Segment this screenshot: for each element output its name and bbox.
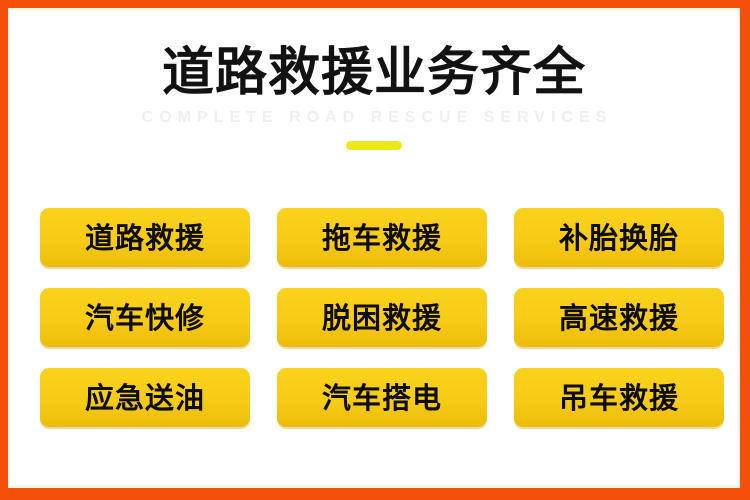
- service-button-label: 应急送油: [85, 382, 205, 414]
- service-button-highway-rescue[interactable]: 高速救援: [514, 288, 724, 347]
- accent-underline-bar: [346, 141, 402, 150]
- service-button-label: 道路救援: [85, 222, 205, 254]
- service-button-tow-rescue[interactable]: 拖车救援: [277, 208, 487, 267]
- rescue-services-poster: 道路救援业务齐全 COMPLETE ROAD RESCUE SERVICES 道…: [0, 0, 750, 500]
- service-button-label: 吊车救援: [559, 382, 679, 414]
- service-button-road-rescue[interactable]: 道路救援: [40, 208, 250, 267]
- service-button-emergency-fuel[interactable]: 应急送油: [40, 368, 250, 427]
- service-button-jump-start[interactable]: 汽车搭电: [277, 368, 487, 427]
- accent-underline-wrap: [8, 128, 740, 150]
- page-title: 道路救援业务齐全: [8, 8, 740, 102]
- frame-border-left: [0, 0, 8, 500]
- page-subtitle: COMPLETE ROAD RESCUE SERVICES: [8, 102, 740, 128]
- service-button-label: 拖车救援: [322, 222, 442, 254]
- service-button-grid: 道路救援 拖车救援 补胎换胎 汽车快修 脱困救援 高速救援 应急送油 汽车搭电: [40, 208, 725, 427]
- service-button-label: 高速救援: [559, 302, 679, 334]
- service-button-label: 汽车快修: [85, 302, 205, 334]
- frame-border-bottom: [0, 488, 750, 500]
- service-button-label: 汽车搭电: [322, 382, 442, 414]
- service-button-crane-rescue[interactable]: 吊车救援: [514, 368, 724, 427]
- service-button-label: 脱困救援: [322, 302, 442, 334]
- service-button-quick-car-repair[interactable]: 汽车快修: [40, 288, 250, 347]
- service-button-label: 补胎换胎: [559, 222, 679, 254]
- service-button-extrication-rescue[interactable]: 脱困救援: [277, 288, 487, 347]
- service-button-tire-repair-replace[interactable]: 补胎换胎: [514, 208, 724, 267]
- frame-border-right: [740, 0, 750, 500]
- poster-header: 道路救援业务齐全 COMPLETE ROAD RESCUE SERVICES: [8, 8, 740, 150]
- poster-content: 道路救援业务齐全 COMPLETE ROAD RESCUE SERVICES 道…: [8, 8, 740, 488]
- frame-border-top: [0, 0, 750, 8]
